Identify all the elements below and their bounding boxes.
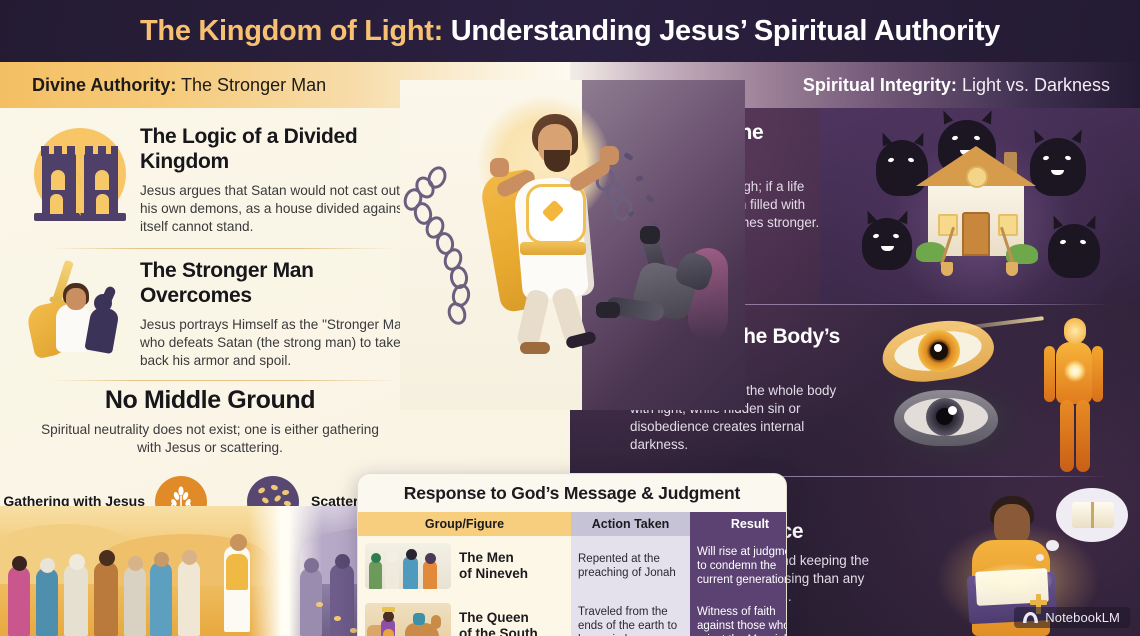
notebooklm-watermark: NotebookLM — [1014, 607, 1130, 628]
cell-action: Repented at the preaching of Jonah — [571, 536, 690, 596]
table-title: Response to God’s Message & Judgment — [358, 474, 786, 512]
table-header-result: Result — [690, 512, 787, 536]
title-bar: The Kingdom of Light: Understanding Jesu… — [0, 0, 1140, 62]
section-body: Jesus argues that Satan would not cast o… — [140, 182, 420, 236]
section-heading: The Stronger Man Overcomes — [140, 258, 420, 308]
page-title-white: Understanding Jesus’ Spiritual Authority — [451, 15, 1000, 47]
body-area: The Logic of a Divided Kingdom Jesus arg… — [0, 108, 1140, 636]
table-header-action: Action Taken — [571, 512, 690, 536]
defeated-knight — [612, 230, 730, 350]
warrior-with-sword-icon — [20, 258, 140, 358]
left-divider-2 — [48, 380, 398, 381]
band-left-bold: Divine Authority: — [32, 75, 176, 95]
cell-result: Witness of faith against those who rejec… — [690, 596, 787, 636]
section-text: The Stronger Man Overcomes Jesus portray… — [140, 258, 420, 370]
table-row: The Men of Nineveh Repented at the preac… — [358, 536, 787, 596]
cell-group-name: The Men of Nineveh — [459, 550, 528, 582]
cell-result: Will rise at judgment to condemn the cur… — [690, 536, 787, 596]
section-stronger-man: The Stronger Man Overcomes Jesus portray… — [20, 258, 420, 370]
queen-of-the-south-icon — [365, 603, 451, 636]
response-table-card: Response to God’s Message & Judgment Gro… — [357, 473, 787, 636]
men-of-nineveh-icon — [365, 543, 451, 589]
page-title-gold: The Kingdom of Light: — [140, 15, 443, 47]
jesus-breaking-chains-illustration — [400, 80, 745, 410]
infographic-page: The Kingdom of Light: Understanding Jesu… — [0, 0, 1140, 636]
page-title: The Kingdom of Light: Understanding Jesu… — [140, 15, 1000, 48]
section-divided-kingdom: The Logic of a Divided Kingdom Jesus arg… — [20, 124, 420, 236]
eye-lamp-icon — [860, 308, 1140, 478]
section-text: The Logic of a Divided Kingdom Jesus arg… — [140, 124, 420, 236]
watermark-label: NotebookLM — [1045, 610, 1120, 625]
jesus-figure — [496, 106, 614, 356]
cell-group: The Men of Nineveh — [358, 536, 571, 596]
cell-action: Traveled from the ends of the earth to h… — [571, 596, 690, 636]
table-header-group: Group/Figure — [358, 512, 571, 536]
cell-group-name: The Queen of the South — [459, 610, 538, 636]
notebooklm-logo-icon — [1022, 611, 1039, 624]
response-table: Group/Figure Action Taken Result — [358, 512, 787, 636]
table-header-row: Group/Figure Action Taken Result — [358, 512, 787, 536]
divided-castle-icon — [20, 124, 140, 224]
band-right-rest: Light vs. Darkness — [962, 75, 1110, 95]
section-heading: The Logic of a Divided Kingdom — [140, 124, 420, 174]
no-middle-ground-body: Spiritual neutrality does not exist; one… — [40, 421, 380, 457]
band-right-bold: Spiritual Integrity: — [803, 75, 957, 95]
table-row: The Queen of the South Traveled from the… — [358, 596, 787, 636]
band-left-rest: The Stronger Man — [181, 75, 326, 95]
cell-group: The Queen of the South — [358, 596, 571, 636]
section-no-middle-ground: No Middle Ground Spiritual neutrality do… — [0, 386, 420, 457]
section-body: Jesus portrays Himself as the "Stronger … — [140, 316, 420, 370]
haunted-house-icon — [820, 108, 1140, 303]
left-divider-1 — [48, 248, 398, 249]
no-middle-ground-heading: No Middle Ground — [0, 386, 420, 415]
